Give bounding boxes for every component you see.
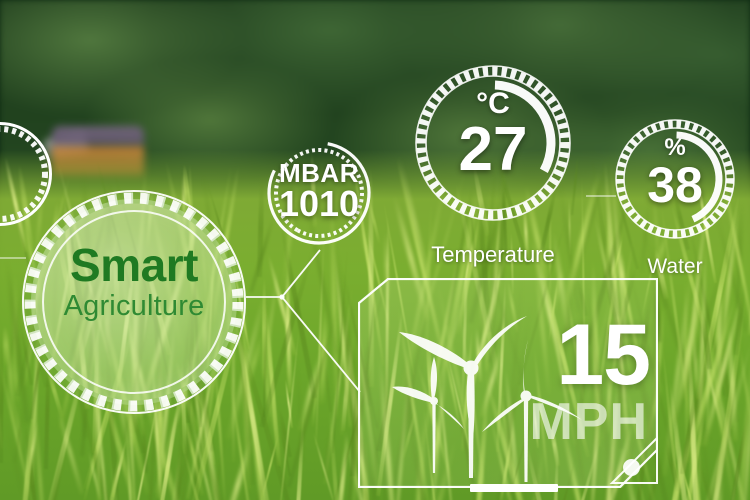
screenshot-canvas: Smart Agriculture MBAR 1010 °C 27 Temper… xyxy=(0,0,750,500)
smart-agriculture-badge[interactable]: Smart Agriculture xyxy=(22,190,246,414)
temperature-value: 27 xyxy=(413,119,573,181)
brand-line-2: Agriculture xyxy=(22,289,246,324)
pressure-gauge[interactable]: MBAR 1010 xyxy=(264,138,374,248)
brand-text: Smart Agriculture xyxy=(22,242,246,324)
water-label: Water xyxy=(614,255,736,279)
temperature-gauge[interactable]: °C 27 xyxy=(413,63,573,223)
temperature-label: Temperature xyxy=(413,242,573,268)
wind-speed-unit: MPH xyxy=(529,396,648,448)
brand-line-1: Smart xyxy=(22,242,246,289)
wind-speed-value: 15 xyxy=(556,312,650,398)
wind-speed-panel[interactable]: 15 MPH xyxy=(358,278,658,488)
water-gauge[interactable]: % 38 xyxy=(614,118,736,240)
water-value: 38 xyxy=(614,160,736,210)
panel-corner-dot xyxy=(623,459,640,476)
pressure-value: 1010 xyxy=(264,186,374,222)
panel-bottom-accent-bar xyxy=(470,484,558,492)
